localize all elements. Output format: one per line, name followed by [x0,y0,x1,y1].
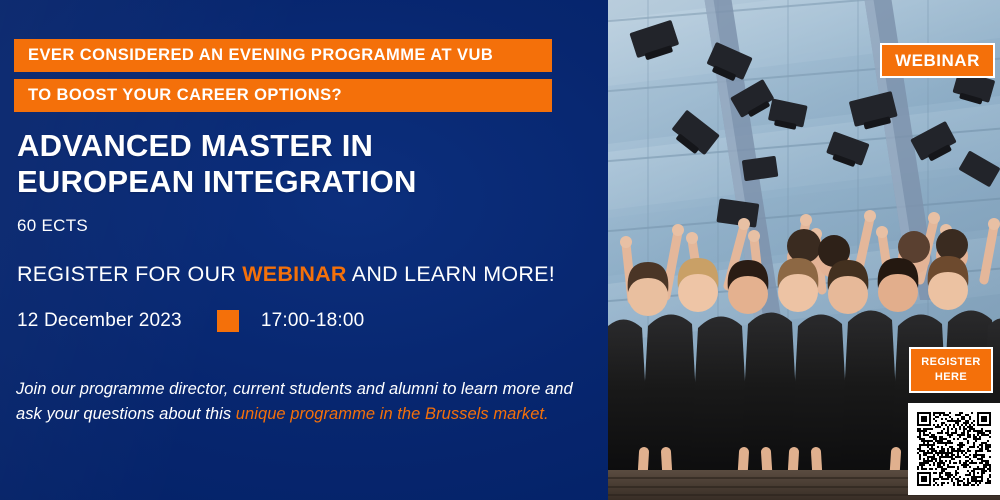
body-description: Join our programme director, current stu… [16,377,576,427]
event-datetime: 12 December 2023 17:00-18:00 [17,310,364,332]
qr-code-card[interactable] [908,403,1000,495]
register-button-line-2: HERE [935,370,967,385]
event-date: 12 December 2023 [17,310,182,332]
register-callout-suffix: AND LEARN MORE! [347,262,555,286]
event-time: 17:00-18:00 [261,310,365,332]
promo-banner: EVER CONSIDERED AN EVENING PROGRAMME AT … [0,0,1000,500]
kicker-bars: EVER CONSIDERED AN EVENING PROGRAMME AT … [14,39,552,112]
credits-label: 60 ECTS [17,216,88,236]
register-callout-highlight: WEBINAR [242,262,346,286]
register-button-line-1: REGISTER [921,355,980,370]
left-content-panel: EVER CONSIDERED AN EVENING PROGRAMME AT … [0,0,608,500]
register-callout: REGISTER FOR OUR WEBINAR AND LEARN MORE! [17,262,555,287]
register-callout-prefix: REGISTER FOR OUR [17,262,242,286]
page-title: ADVANCED MASTER IN EUROPEAN INTEGRATION [17,128,417,200]
kicker-bar-2: TO BOOST YOUR CAREER OPTIONS? [14,79,552,112]
kicker-bar-1: EVER CONSIDERED AN EVENING PROGRAMME AT … [14,39,552,72]
webinar-badge: WEBINAR [880,43,995,78]
body-description-highlight: unique programme in the Brussels market. [236,405,549,423]
qr-code-icon [917,412,991,486]
orange-square-separator-icon [217,310,239,332]
headline-line-1: ADVANCED MASTER IN [17,128,417,164]
right-photo-panel: WEBINAR REGISTER HERE [608,0,1000,500]
register-here-button[interactable]: REGISTER HERE [909,347,993,393]
headline-line-2: EUROPEAN INTEGRATION [17,164,417,200]
